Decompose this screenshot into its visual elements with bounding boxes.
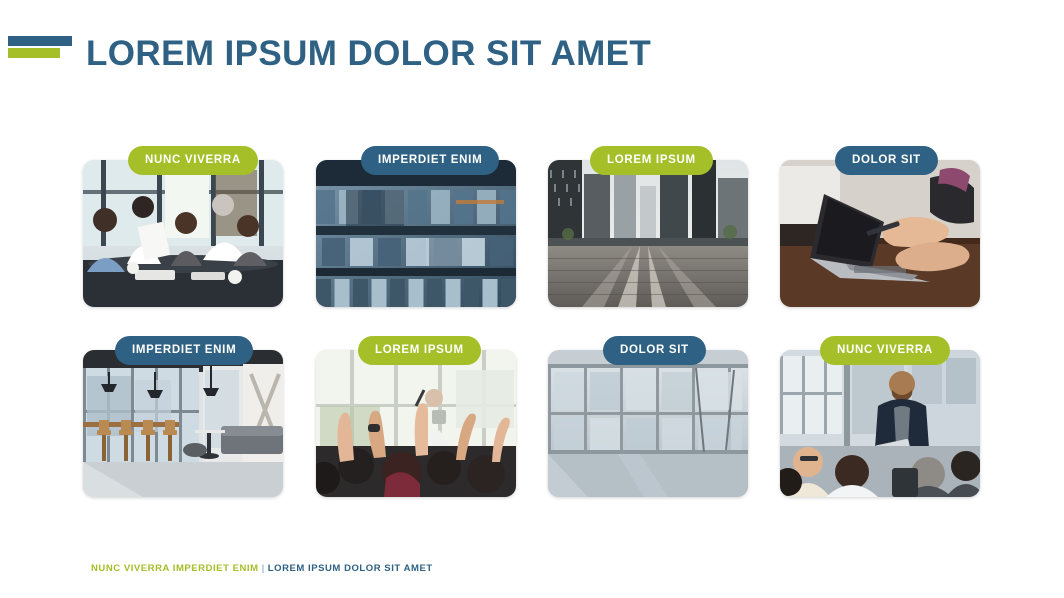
- card-badge[interactable]: LOREM IPSUM: [358, 336, 481, 365]
- card-badge[interactable]: LOREM IPSUM: [590, 146, 713, 175]
- page-title: LOREM IPSUM DOLOR SIT AMET: [86, 28, 651, 80]
- image-card[interactable]: NUNC VIVERRA: [780, 350, 980, 497]
- glass-building-photo: [316, 160, 516, 307]
- card-badge[interactable]: IMPERDIET ENIM: [115, 336, 253, 365]
- image-card[interactable]: NUNC VIVERRA: [83, 160, 283, 307]
- card-badge[interactable]: NUNC VIVERRA: [128, 146, 258, 175]
- image-card[interactable]: LOREM IPSUM: [316, 350, 516, 497]
- accent-bar-blue: [8, 36, 72, 46]
- card-badge[interactable]: IMPERDIET ENIM: [361, 146, 499, 175]
- footer: NUNC VIVERRA IMPERDIET ENIM|LOREM IPSUM …: [91, 563, 433, 574]
- presentation-room-photo: [780, 350, 980, 497]
- raised-hands-photo: [316, 350, 516, 497]
- slide-header: LOREM IPSUM DOLOR SIT AMET: [0, 28, 1064, 84]
- laptop-typing-photo: [780, 160, 980, 307]
- accent-bar-green: [8, 48, 60, 58]
- card-badge[interactable]: NUNC VIVERRA: [820, 336, 950, 365]
- image-card-grid: NUNC VIVERRAIMPERDIET ENIMLOREM IPSUMDOL…: [83, 160, 981, 493]
- office-lounge-photo: [83, 350, 283, 497]
- city-plaza-photo: [548, 160, 748, 307]
- image-card[interactable]: DOLOR SIT: [780, 160, 980, 307]
- footer-green-text: NUNC VIVERRA IMPERDIET ENIM: [91, 563, 259, 574]
- title-accent-bars: [8, 36, 72, 66]
- team-meeting-photo: [83, 160, 283, 307]
- footer-blue-text: LOREM IPSUM DOLOR SIT AMET: [268, 563, 433, 574]
- glass-corridor-photo: [548, 350, 748, 497]
- footer-separator: |: [262, 563, 265, 574]
- image-card[interactable]: DOLOR SIT: [548, 350, 748, 497]
- image-card[interactable]: IMPERDIET ENIM: [316, 160, 516, 307]
- card-badge[interactable]: DOLOR SIT: [603, 336, 706, 365]
- image-card[interactable]: LOREM IPSUM: [548, 160, 748, 307]
- card-badge[interactable]: DOLOR SIT: [835, 146, 938, 175]
- image-card[interactable]: IMPERDIET ENIM: [83, 350, 283, 497]
